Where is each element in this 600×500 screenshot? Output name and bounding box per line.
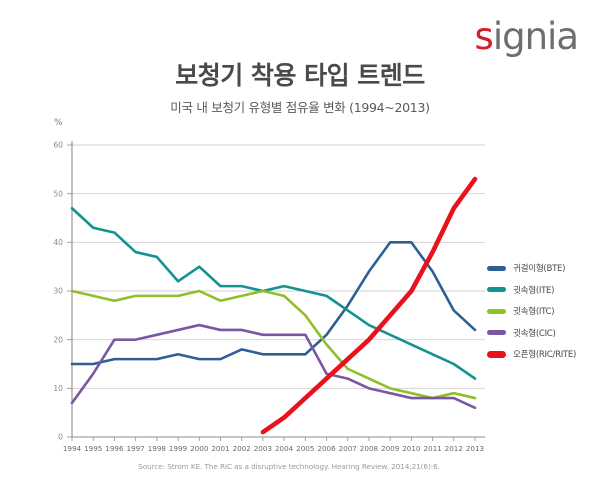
legend-label-cic: 귓속형(CIC) bbox=[513, 327, 556, 339]
chart-plot-area: 0102030405060199419951996199719981999200… bbox=[0, 0, 600, 500]
legend-swatch-ite bbox=[487, 287, 506, 292]
legend-item-cic: 귓속형(CIC) bbox=[487, 327, 597, 339]
x-tick-label-2005: 2005 bbox=[296, 444, 314, 453]
y-tick-label-40: 40 bbox=[53, 238, 63, 247]
chart-legend: 귀걸이형(BTE) 귓속형(ITE) 귓속형(ITC) 귓속형(CIC) 오픈형… bbox=[487, 262, 597, 370]
x-tick-label-2007: 2007 bbox=[339, 444, 357, 453]
x-tick-label-2006: 2006 bbox=[317, 444, 336, 453]
series-line-귓속형cic bbox=[72, 325, 475, 408]
x-tick-label-2001: 2001 bbox=[211, 444, 229, 453]
series-line-귓속형itc bbox=[72, 291, 475, 398]
legend-swatch-ric-rite bbox=[487, 351, 506, 358]
legend-label-ite: 귓속형(ITE) bbox=[513, 284, 554, 296]
legend-swatch-itc bbox=[487, 309, 506, 314]
x-tick-label-2004: 2004 bbox=[275, 444, 294, 453]
legend-item-ric-rite: 오픈형(RIC/RITE) bbox=[487, 348, 597, 360]
x-tick-label-1995: 1995 bbox=[84, 444, 102, 453]
x-tick-label-2000: 2000 bbox=[190, 444, 209, 453]
y-tick-label-30: 30 bbox=[53, 287, 63, 296]
x-tick-label-1996: 1996 bbox=[105, 444, 124, 453]
legend-swatch-bte bbox=[487, 266, 506, 271]
x-tick-label-2011: 2011 bbox=[423, 444, 441, 453]
x-tick-label-2012: 2012 bbox=[445, 444, 463, 453]
legend-item-ite: 귓속형(ITE) bbox=[487, 284, 597, 296]
legend-label-ric-rite: 오픈형(RIC/RITE) bbox=[513, 348, 576, 360]
x-tick-label-2013: 2013 bbox=[466, 444, 484, 453]
source-note: Source: Strom KE. The RIC as a disruptiv… bbox=[0, 462, 600, 471]
x-tick-label-2010: 2010 bbox=[402, 444, 421, 453]
x-tick-label-2008: 2008 bbox=[360, 444, 379, 453]
y-tick-label-60: 60 bbox=[53, 141, 63, 150]
legend-item-itc: 귓속형(ITC) bbox=[487, 305, 597, 317]
x-tick-label-1999: 1999 bbox=[169, 444, 188, 453]
line-chart-svg: 0102030405060199419951996199719981999200… bbox=[0, 0, 600, 500]
legend-label-itc: 귓속형(ITC) bbox=[513, 305, 554, 317]
x-tick-label-2003: 2003 bbox=[254, 444, 272, 453]
x-tick-label-2002: 2002 bbox=[233, 444, 251, 453]
y-tick-label-20: 20 bbox=[53, 335, 63, 344]
x-tick-label-2009: 2009 bbox=[381, 444, 400, 453]
legend-item-bte: 귀걸이형(BTE) bbox=[487, 262, 597, 274]
y-tick-label-50: 50 bbox=[53, 189, 63, 198]
x-tick-label-1994: 1994 bbox=[63, 444, 82, 453]
x-tick-label-1997: 1997 bbox=[126, 444, 144, 453]
source-note-text: Source: Strom KE. The RIC as a disruptiv… bbox=[138, 462, 462, 471]
legend-label-bte: 귀걸이형(BTE) bbox=[513, 262, 565, 274]
x-tick-label-1998: 1998 bbox=[148, 444, 167, 453]
y-tick-label-10: 10 bbox=[53, 384, 63, 393]
legend-swatch-cic bbox=[487, 330, 506, 335]
y-tick-label-0: 0 bbox=[58, 433, 63, 442]
